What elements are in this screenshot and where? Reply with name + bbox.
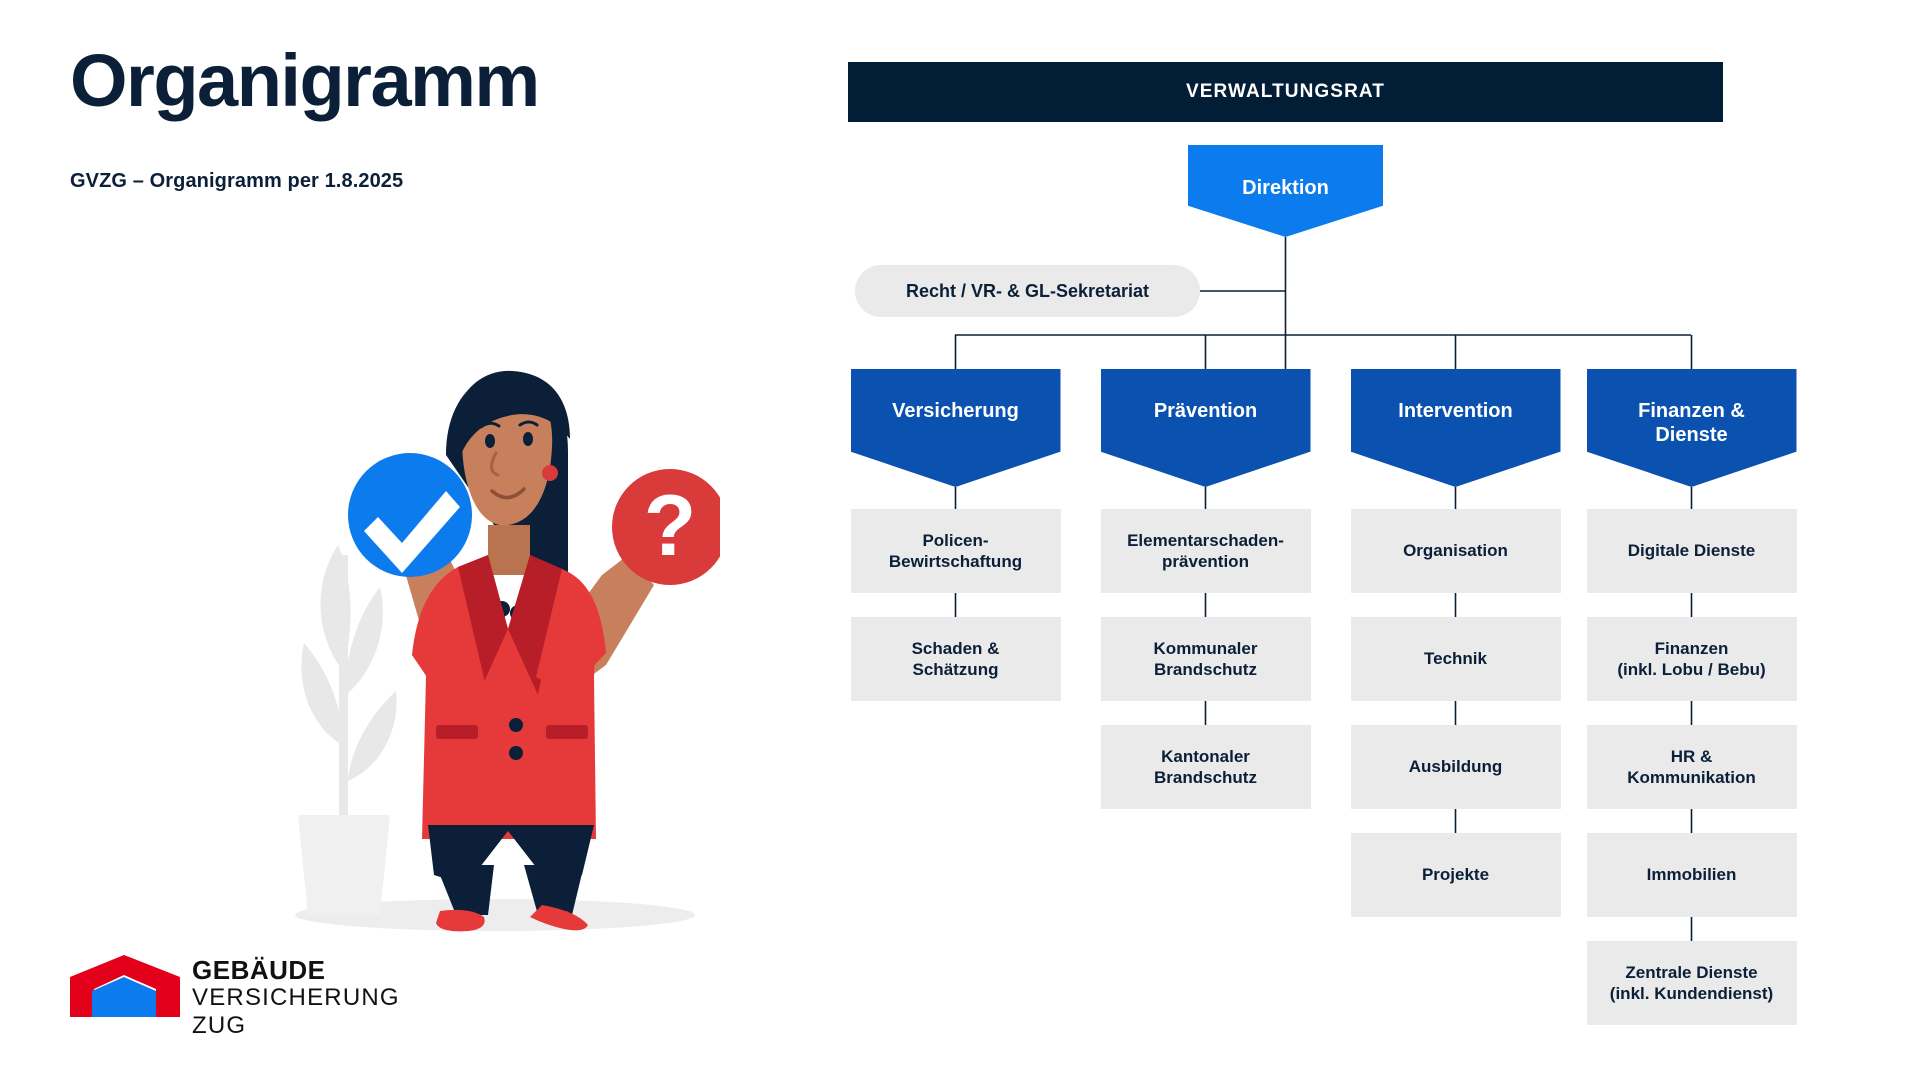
- unit-kantonaler-brandschutz[interactable]: KantonalerBrandschutz: [1101, 725, 1311, 809]
- unit-kommunaler-brandschutz[interactable]: KommunalerBrandschutz: [1101, 617, 1311, 701]
- unit-ausbildung[interactable]: Ausbildung: [1351, 725, 1561, 809]
- plant-icon: [298, 545, 397, 915]
- direktion-label: Direktion: [1242, 177, 1329, 200]
- unit-finanzen[interactable]: Finanzen(inkl. Lobu / Bebu): [1587, 617, 1797, 701]
- unit-label: KantonalerBrandschutz: [1154, 746, 1257, 789]
- unit-label: Zentrale Dienste(inkl. Kundendienst): [1610, 962, 1773, 1005]
- dept-finanzen-dienste[interactable]: Finanzen &Dienste: [1587, 369, 1797, 487]
- unit-zentrale-dienste[interactable]: Zentrale Dienste(inkl. Kundendienst): [1587, 941, 1797, 1025]
- svg-text:?: ?: [644, 478, 697, 574]
- logo-text: GEBÄUDE VERSICHERUNG ZUG: [192, 957, 430, 1039]
- unit-label: Organisation: [1403, 540, 1508, 561]
- illustration-woman-with-icons: ?: [250, 225, 720, 940]
- logo-line-1: GEBÄUDE: [192, 957, 430, 984]
- unit-hr-kommunikation[interactable]: HR &Kommunikation: [1587, 725, 1797, 809]
- node-recht-vr-gl-sekretariat[interactable]: Recht / VR- & GL-Sekretariat: [855, 265, 1200, 317]
- unit-policen-bewirtschaftung[interactable]: Policen-Bewirtschaftung: [851, 509, 1061, 593]
- dept-label: Finanzen &Dienste: [1638, 399, 1745, 447]
- dept-praevention[interactable]: Prävention: [1101, 369, 1311, 487]
- node-direktion[interactable]: Direktion: [1188, 145, 1383, 237]
- unit-label: Projekte: [1422, 864, 1489, 885]
- unit-elementarschadenpraevention[interactable]: Elementarschaden-prävention: [1101, 509, 1311, 593]
- unit-schaden-schaetzung[interactable]: Schaden &Schätzung: [851, 617, 1061, 701]
- unit-organisation[interactable]: Organisation: [1351, 509, 1561, 593]
- check-circle-icon: [348, 453, 472, 577]
- page-title: Organigramm: [70, 44, 539, 118]
- unit-label: Technik: [1424, 648, 1487, 669]
- unit-label: Immobilien: [1647, 864, 1737, 885]
- logo-line-2: VERSICHERUNG ZUG: [192, 984, 430, 1039]
- board-bar-verwaltungsrat[interactable]: VERWALTUNGSRAT: [848, 62, 1723, 122]
- unit-label: Elementarschaden-prävention: [1127, 530, 1284, 573]
- unit-label: Policen-Bewirtschaftung: [889, 530, 1022, 573]
- left-panel: Organigramm GVZG – Organigramm per 1.8.2…: [0, 0, 760, 1080]
- dept-label: Intervention: [1398, 399, 1512, 423]
- unit-label: KommunalerBrandschutz: [1154, 638, 1258, 681]
- unit-label: HR &Kommunikation: [1627, 746, 1755, 789]
- brand-logo: GEBÄUDE VERSICHERUNG ZUG: [70, 955, 430, 1035]
- house-roof-icon: [70, 955, 180, 1017]
- org-chart: VERWALTUNGSRAT Direktion Recht / VR- & G…: [760, 0, 1920, 1080]
- dept-versicherung[interactable]: Versicherung: [851, 369, 1061, 487]
- page-subtitle: GVZG – Organigramm per 1.8.2025: [70, 170, 403, 193]
- unit-label: Finanzen(inkl. Lobu / Bebu): [1617, 638, 1765, 681]
- dept-intervention[interactable]: Intervention: [1351, 369, 1561, 487]
- unit-label: Digitale Dienste: [1628, 540, 1756, 561]
- dept-label: Prävention: [1154, 399, 1257, 423]
- unit-label: Ausbildung: [1409, 756, 1502, 777]
- unit-digitale-dienste[interactable]: Digitale Dienste: [1587, 509, 1797, 593]
- unit-projekte[interactable]: Projekte: [1351, 833, 1561, 917]
- unit-immobilien[interactable]: Immobilien: [1587, 833, 1797, 917]
- board-bar-label: VERWALTUNGSRAT: [1186, 81, 1385, 103]
- unit-label: Schaden &Schätzung: [912, 638, 1000, 681]
- unit-technik[interactable]: Technik: [1351, 617, 1561, 701]
- dept-label: Versicherung: [892, 399, 1019, 423]
- recht-label: Recht / VR- & GL-Sekretariat: [906, 281, 1149, 302]
